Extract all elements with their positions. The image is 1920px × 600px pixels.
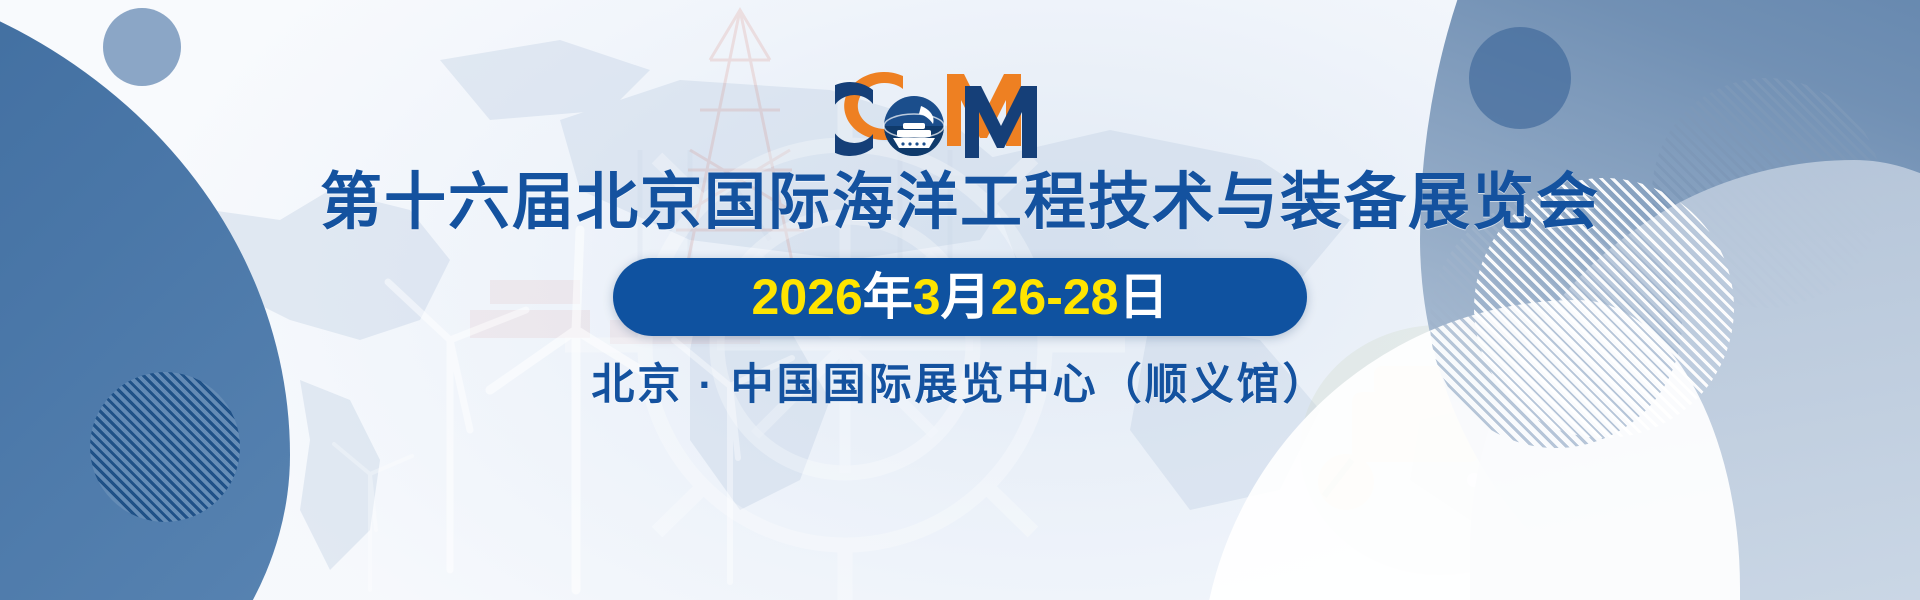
page-title: 第十六届北京国际海洋工程技术与装备展览会 — [320, 172, 1600, 234]
date-days: 26-28 — [991, 272, 1119, 322]
cm-ship-globe-logo — [835, 62, 1085, 166]
date-month-unit: 月 — [941, 272, 991, 322]
date-year-unit: 年 — [863, 272, 913, 322]
date-year: 2026 — [752, 272, 863, 322]
venue-text: 北京 · 中国国际展览中心（顺义馆） — [591, 364, 1328, 407]
date-day-unit: 日 — [1118, 272, 1168, 322]
date-badge: 2026 年 3 月 26-28 日 — [613, 258, 1307, 336]
date-text: 2026 年 3 月 26-28 日 — [752, 272, 1169, 322]
banner-content: 第十六届北京国际海洋工程技术与装备展览会 2026 年 3 月 26-28 日 … — [0, 0, 1920, 600]
date-month: 3 — [913, 272, 941, 322]
exhibition-banner: 第十六届北京国际海洋工程技术与装备展览会 2026 年 3 月 26-28 日 … — [0, 0, 1920, 600]
